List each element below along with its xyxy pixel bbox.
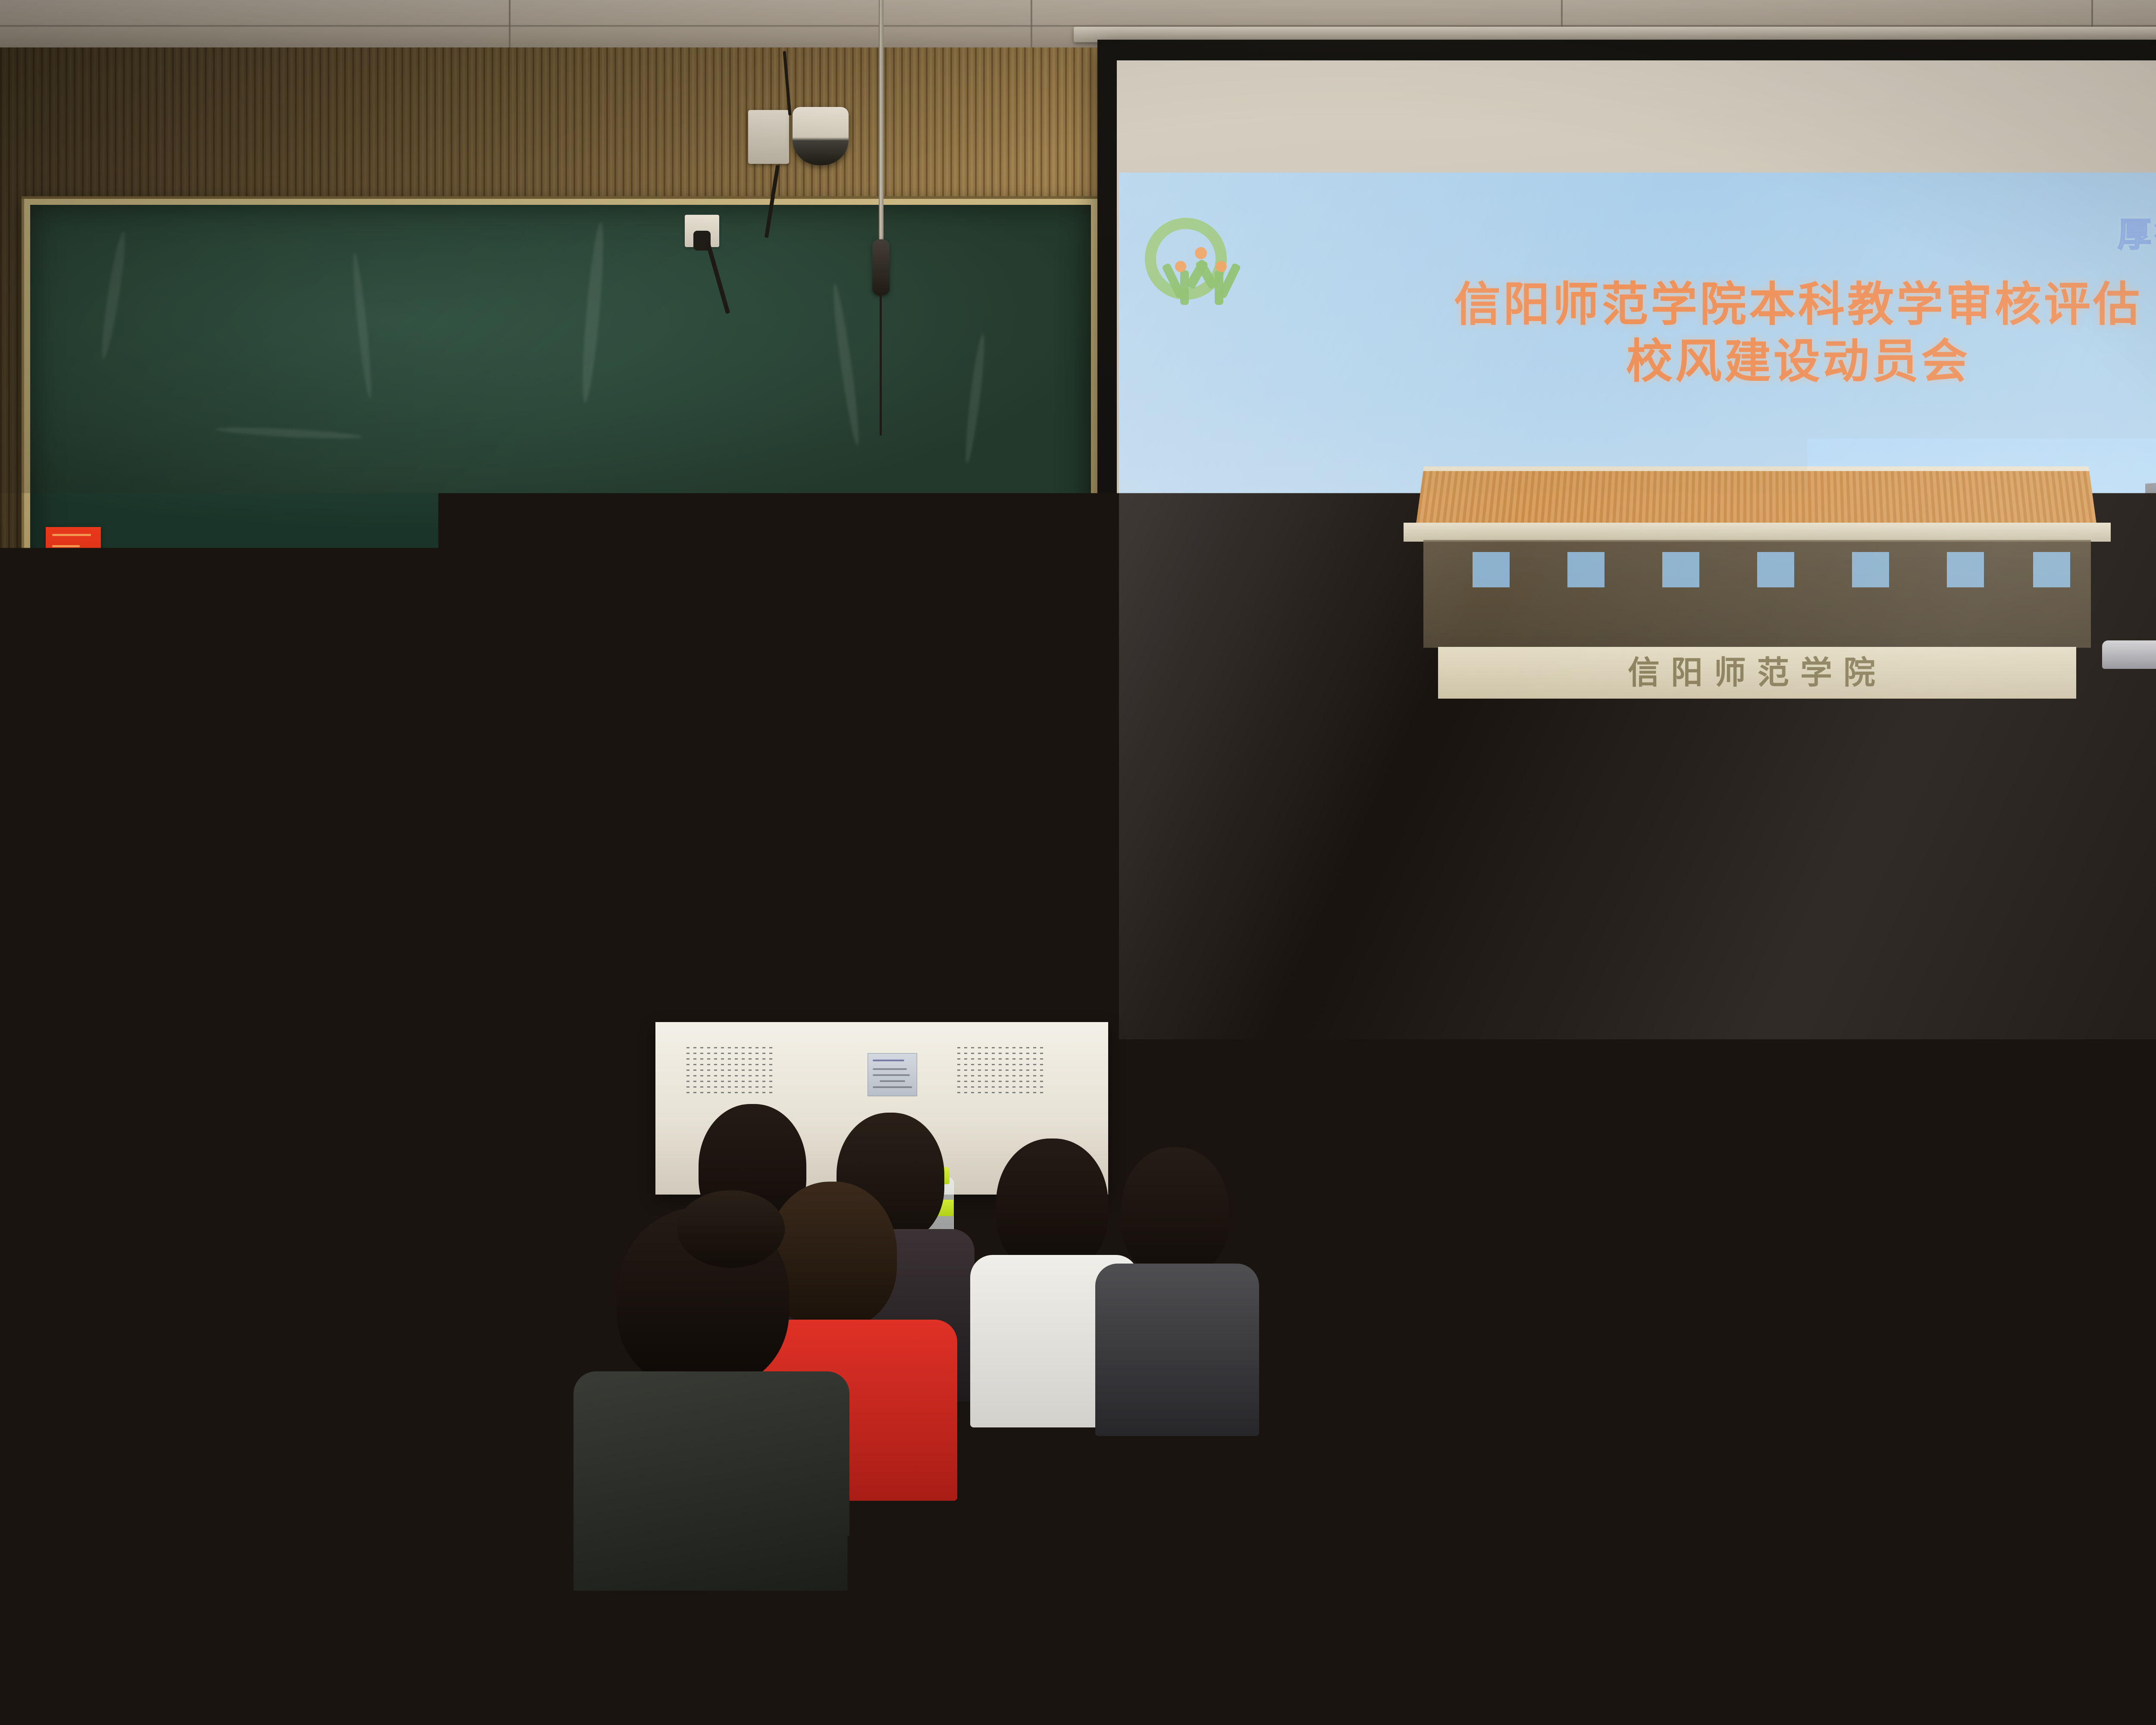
student-head — [52, 1117, 177, 1255]
podium-vent-left — [686, 1043, 773, 1095]
camera-junction-box — [748, 110, 789, 164]
student-head — [1052, 1466, 1233, 1725]
podium-pen-tray[interactable] — [679, 996, 744, 1014]
slide-light-sheen — [1119, 172, 2156, 1039]
desk-midright-top — [1190, 1212, 1759, 1231]
student-head — [1716, 1621, 1915, 1725]
student-head — [1807, 1233, 1936, 1389]
student-head — [1337, 1212, 1453, 1350]
student-head — [996, 1138, 1108, 1272]
podium-vent-right — [957, 1043, 1044, 1095]
student-body — [573, 1371, 849, 1613]
hair-bun — [677, 1190, 785, 1268]
gooseneck-microphone-neck — [995, 893, 999, 966]
hanging-microphone-cord — [880, 293, 882, 436]
hair-clip — [216, 1151, 250, 1168]
red-notice-card — [46, 527, 101, 592]
blackboard-middle-rail — [24, 586, 1102, 606]
student-head — [500, 1091, 617, 1233]
student-head — [819, 1570, 1035, 1725]
student-head — [185, 1095, 310, 1238]
student-head — [1462, 1492, 1604, 1665]
dome-security-camera — [793, 107, 849, 165]
equipment-label-plate — [868, 1053, 917, 1096]
presenter-chest-pocket — [862, 878, 931, 934]
gooseneck-microphone-base — [983, 964, 1022, 975]
hanging-microphone-capsule — [872, 239, 890, 295]
hair-bun — [142, 1233, 267, 1324]
student-head — [1302, 1596, 1483, 1725]
handout-sheet[interactable] — [1285, 1365, 1415, 1399]
presenter-nose — [829, 719, 841, 740]
microphone-status-led — [988, 888, 1000, 893]
student-body — [2083, 1587, 2156, 1725]
student-head — [371, 1104, 496, 1246]
hanging-microphone-rod — [879, 0, 884, 241]
student-body — [1095, 1264, 1259, 1436]
laptop-computer[interactable] — [682, 949, 788, 997]
presentation-slide: 厚德崇实、善学敏行 信阳师范学院本科教学审核评估 校风建设动员会 信阳 — [1119, 172, 2156, 1039]
classroom-scene: 厚德崇实、善学敏行 信阳师范学院本科教学审核评估 校风建设动员会 信阳 — [0, 0, 2156, 1725]
chalkboard-eraser[interactable] — [321, 990, 373, 1005]
student-head — [1121, 1147, 1229, 1276]
blackboard-upper-panel — [30, 205, 1091, 589]
student-head — [1595, 1264, 1725, 1414]
